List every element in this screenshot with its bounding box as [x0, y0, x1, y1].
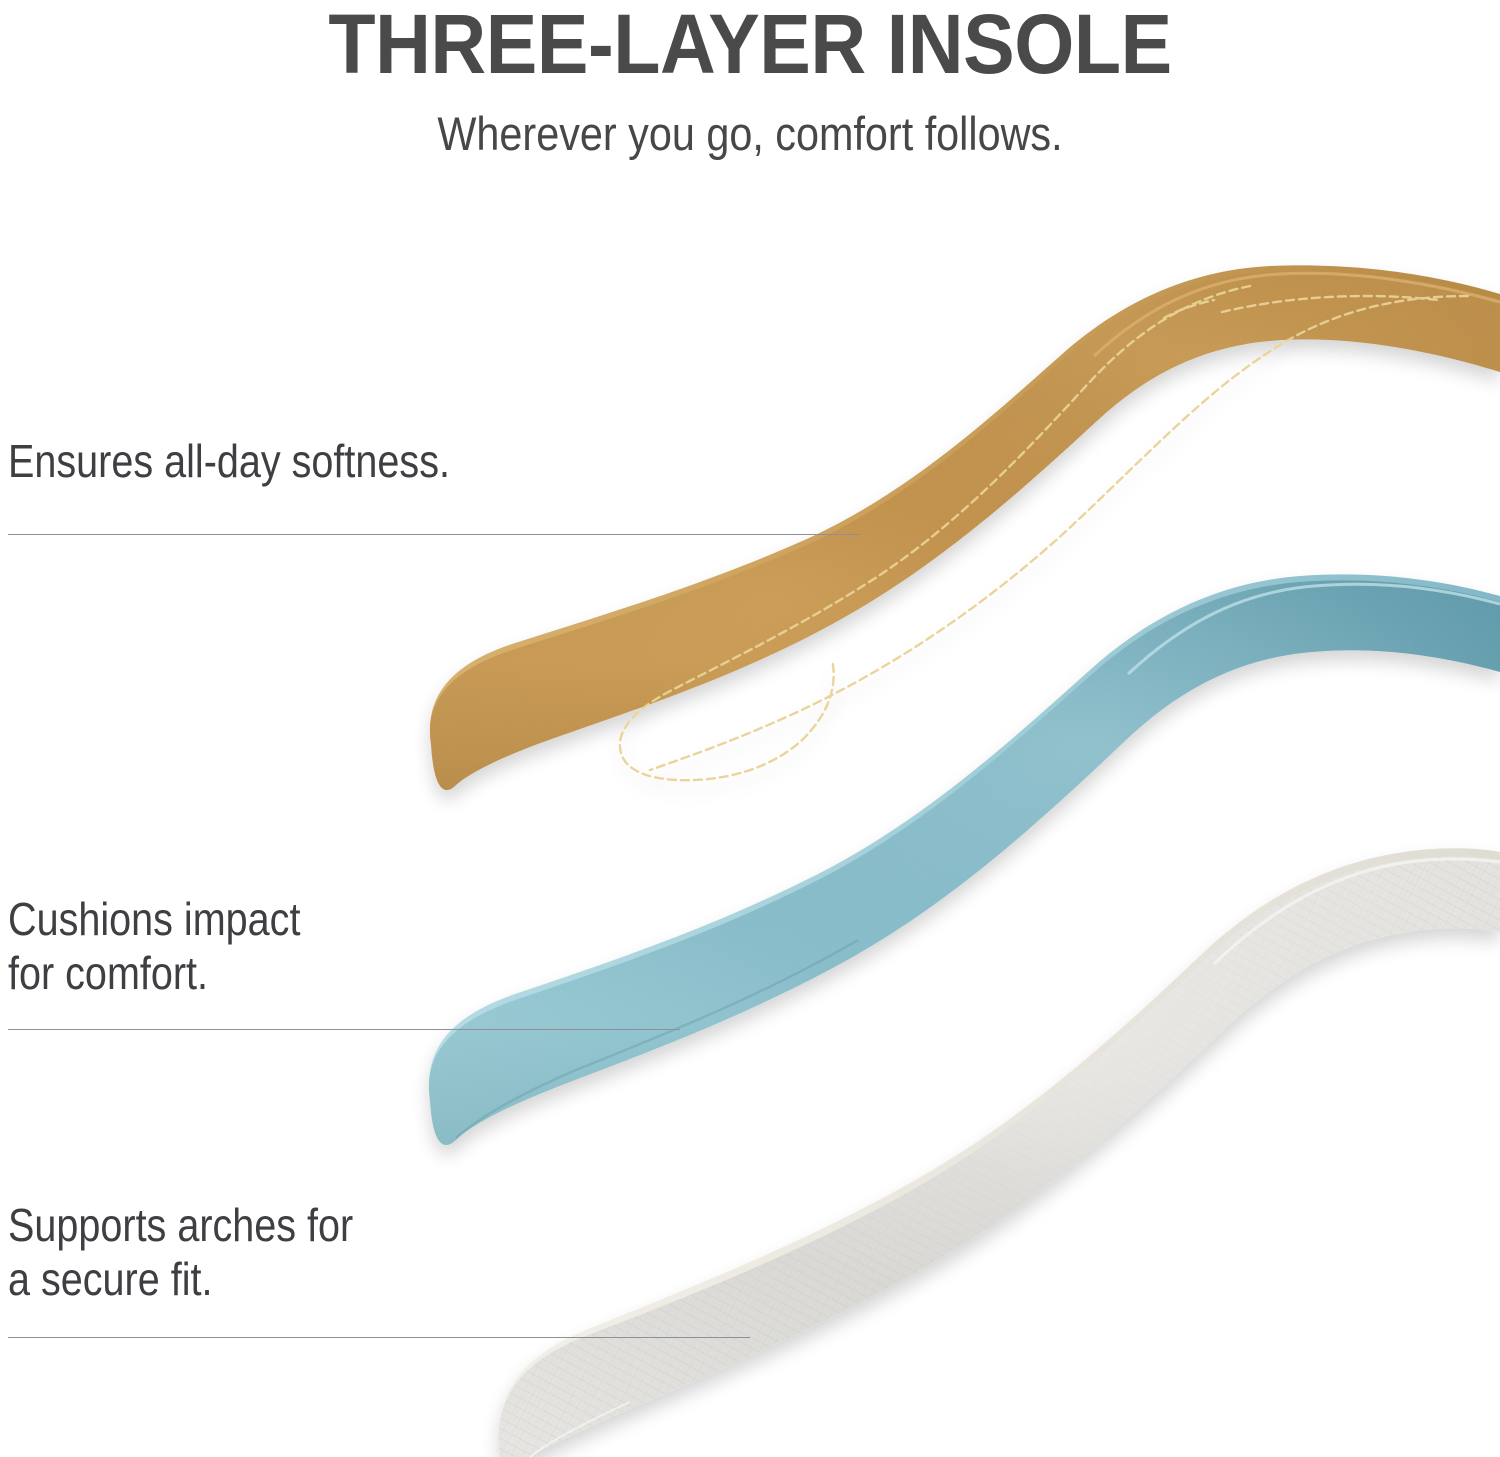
callout-support: Supports arches for a secure fit.: [8, 1198, 758, 1338]
callout-support-label: Supports arches for a secure fit.: [8, 1198, 653, 1307]
page-subtitle: Wherever you go, comfort follows.: [90, 110, 1410, 157]
callout-support-leader-line: [8, 1337, 750, 1338]
callout-cushion-leader-line: [8, 1029, 680, 1030]
callout-cushion: Cushions impact for comfort.: [8, 892, 688, 1030]
callout-softness-leader-line: [8, 534, 860, 535]
callout-softness: Ensures all-day softness.: [8, 434, 868, 535]
header: THREE-LAYER INSOLE Wherever you go, comf…: [0, 0, 1500, 157]
page-title: THREE-LAYER INSOLE: [60, 0, 1440, 86]
callout-softness-label: Ensures all-day softness.: [8, 434, 748, 488]
infographic-canvas: THREE-LAYER INSOLE Wherever you go, comf…: [0, 0, 1500, 1457]
callout-cushion-label: Cushions impact for comfort.: [8, 892, 593, 1001]
